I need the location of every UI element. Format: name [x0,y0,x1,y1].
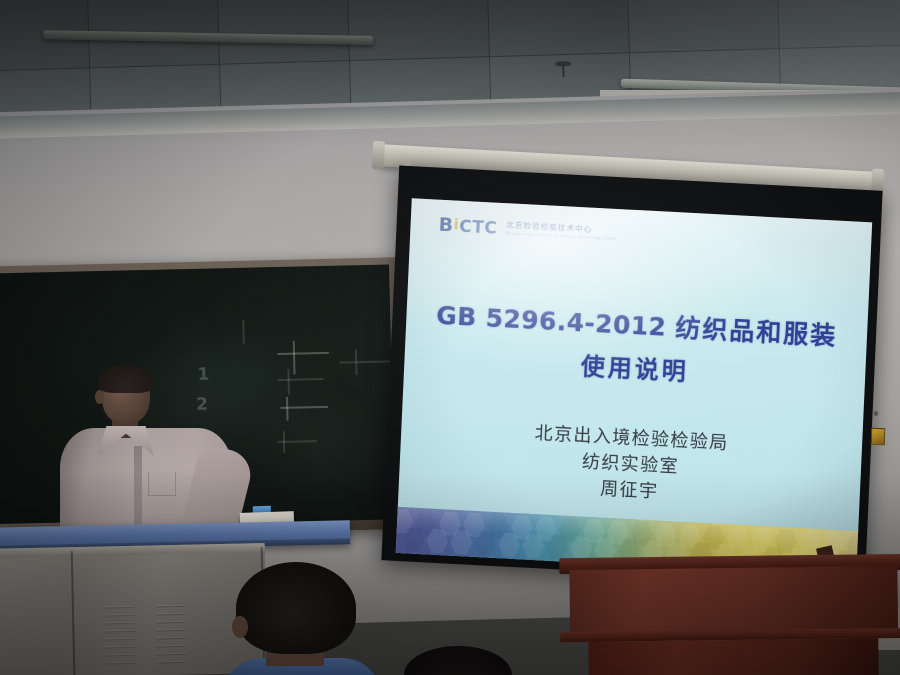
logo-letter-i: i [453,217,459,232]
logo-letters-ctc: CTC [459,219,498,238]
slide-title: GB 5296.4-2012 纺织品和服装 使用说明 [404,294,868,396]
metal-storage-cabinet[interactable] [0,543,267,675]
ceiling-sprinkler-head [555,59,572,79]
projection-screen[interactable]: B i CTC 北京检验检疫技术中心 Beijing Inspection an… [381,166,882,586]
photo-scene: 1 2 3 B i [0,0,900,675]
audience-member-foreground [404,646,512,675]
slide-title-cjk: 纺织品和服装 [675,313,838,350]
presenter-hair [98,365,154,393]
presenter-ear [95,390,104,404]
audience-member-blue-shirt [236,562,356,675]
wooden-lectern [559,554,900,675]
bictc-logo-mark: B i CTC [438,216,497,238]
standard-code: GB 5296.4-2012 [436,301,667,342]
wall-mounted-switch[interactable] [871,428,886,445]
presenter-shirt-pocket [148,472,176,496]
wall-screw [874,411,878,416]
logo-letter-b: B [438,216,454,236]
projected-slide: B i CTC 北京检验检疫技术中心 Beijing Inspection an… [396,198,872,577]
slide-subtitle-block: 北京出入境检验检验局 纺织实验室 周征宇 [398,414,862,516]
slide-logo: B i CTC 北京检验检疫技术中心 Beijing Inspection an… [438,216,617,244]
lectern-base [588,638,879,675]
